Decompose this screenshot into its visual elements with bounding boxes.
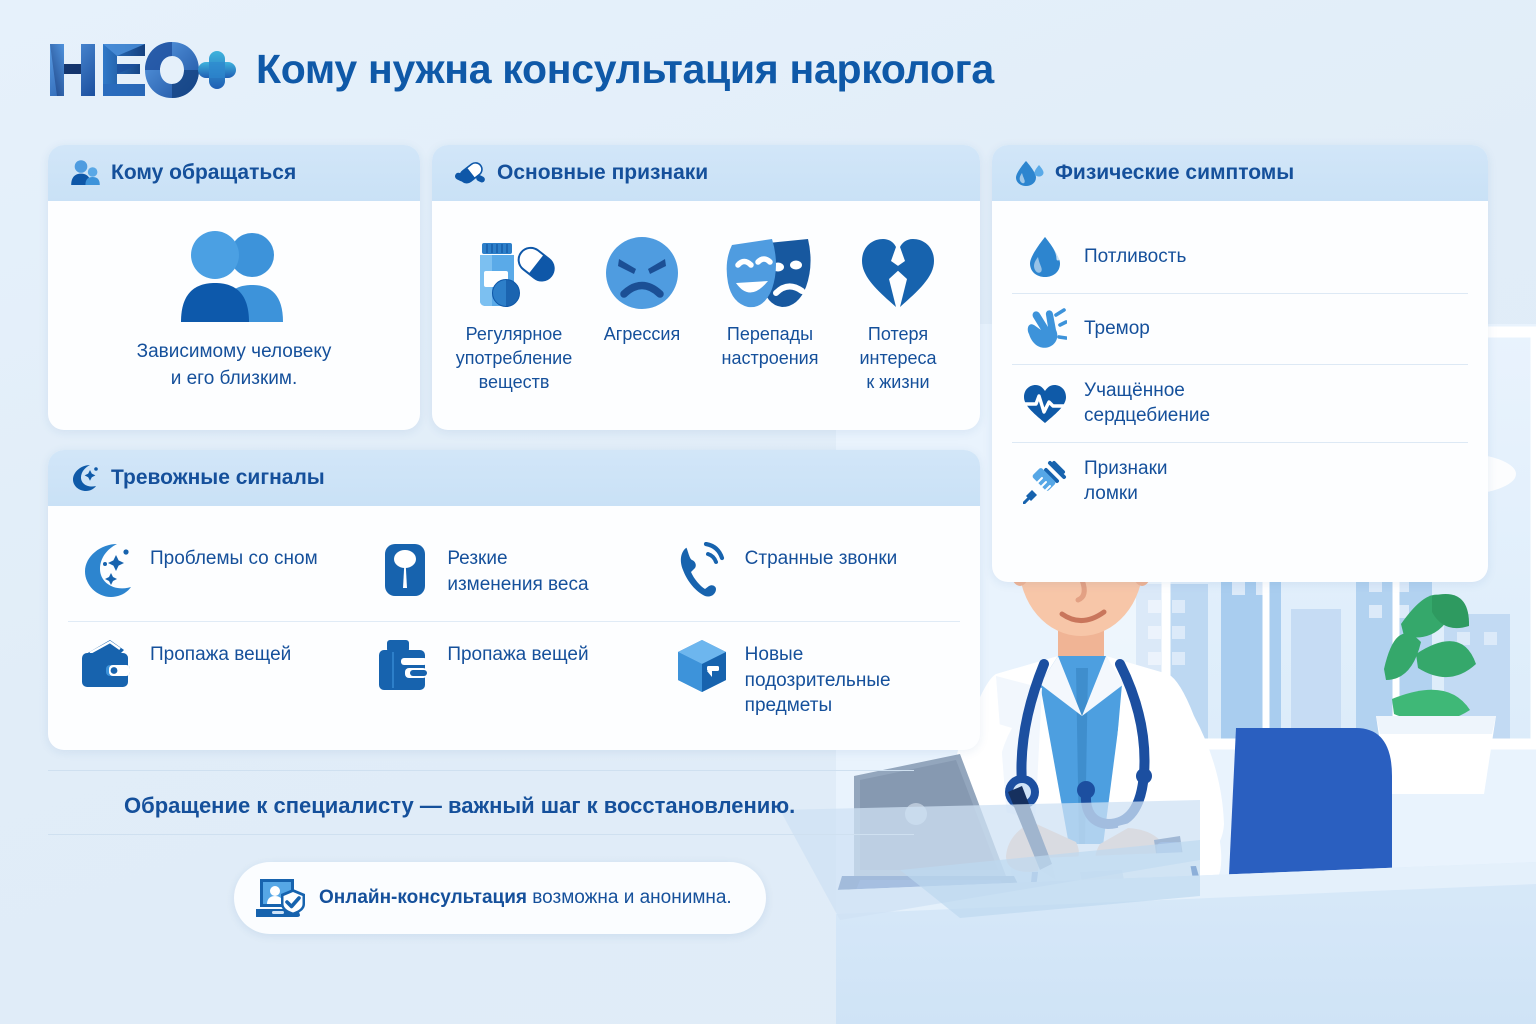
wallet-icon: [80, 636, 136, 690]
sign-label: Агрессия: [604, 323, 680, 347]
badge-text: Онлайн-консультация возможна и анонимна.: [319, 887, 732, 909]
signs-grid: Регулярное употребление веществ Агрессия: [452, 215, 960, 395]
footer-divider-bottom: [48, 834, 914, 835]
shaking-hand-icon: [1022, 308, 1068, 350]
list-item: Резкие изменения веса: [365, 526, 662, 622]
card-signs-body: Регулярное употребление веществ Агрессия: [432, 201, 980, 411]
desk: [836, 862, 1536, 1024]
list-item: Пропажа вещей: [68, 622, 365, 735]
potted-plant: [1376, 594, 1496, 794]
card-signs-header: Основные признаки: [432, 145, 980, 201]
card-physical-symptoms: Физические симптомы Потливость: [992, 145, 1488, 582]
water-drops-icon: [1014, 159, 1044, 187]
office-chair: [1228, 728, 1392, 938]
header: Кому нужна консультация нарколога: [48, 38, 994, 100]
list-item-label: Странные звонки: [745, 540, 898, 572]
heartbeat-icon: [1022, 383, 1068, 425]
sign-item: Регулярное употребление веществ: [452, 227, 576, 395]
sign-label: Потеря интереса к жизни: [859, 323, 936, 395]
purse-icon: [377, 636, 433, 694]
card-alarm-signals: Тревожные сигналы Проблемы со сном: [48, 450, 980, 750]
list-item: Проблемы со сном: [68, 526, 365, 622]
card-alarm-title: Тревожные сигналы: [111, 466, 325, 490]
sign-item: Потеря интереса к жизни: [836, 227, 960, 395]
card-physical-title: Физические симптомы: [1055, 161, 1294, 185]
sign-item: Перепады настроения: [708, 227, 832, 395]
neo-plus-logo: [48, 38, 238, 100]
list-item-label: Учащённое сердцебиение: [1084, 379, 1210, 428]
list-item-label: Проблемы со сном: [150, 540, 318, 572]
alarm-grid-row-2: Пропажа вещей Пропажа вещей: [68, 622, 960, 735]
broken-heart-icon: [858, 235, 938, 311]
card-signs-title: Основные признаки: [497, 161, 708, 185]
theater-masks-icon: [724, 235, 816, 311]
list-item-label: Пропажа вещей: [447, 636, 588, 668]
weight-scale-icon: [377, 540, 433, 598]
list-item: Пропажа вещей: [365, 622, 662, 735]
card-who-body: Зависимому человеку и его близким.: [48, 201, 420, 409]
card-physical-header: Физические симптомы: [992, 145, 1488, 201]
list-item-label: Пропажа вещей: [150, 636, 291, 668]
laptop-verified-icon: [256, 875, 306, 921]
card-who-header: Кому обращаться: [48, 145, 420, 201]
list-item-label: Новые подозрительные предметы: [745, 636, 891, 719]
sign-label: Регулярное употребление веществ: [456, 323, 572, 395]
two-people-large-icon: [162, 229, 306, 325]
badge-strong: Онлайн-консультация: [319, 887, 527, 908]
card-who-title: Кому обращаться: [111, 161, 296, 185]
page-title: Кому нужна консультация нарколога: [256, 46, 994, 93]
pill-bottle-icon: [472, 235, 556, 311]
list-item-label: Резкие изменения веса: [447, 540, 588, 597]
list-item: Учащённое сердцебиение: [1012, 365, 1468, 443]
list-item-label: Признаки ломки: [1084, 457, 1168, 506]
phone-call-icon: [675, 540, 731, 600]
card-physical-body: Потливость Тремор: [992, 201, 1488, 537]
laptop: [836, 754, 1024, 896]
who-caption-line: Зависимому человеку: [137, 339, 332, 366]
two-people-icon: [70, 159, 100, 187]
moon-stars-icon: [80, 540, 136, 600]
card-main-signs: Основные признаки: [432, 145, 980, 430]
sign-item: Агрессия: [580, 227, 704, 395]
list-item: Потливость: [1012, 221, 1468, 294]
list-item: Признаки ломки: [1012, 443, 1468, 520]
droplet-icon: [1022, 235, 1068, 279]
card-alarm-body: Проблемы со сном Резкие изменения веса: [48, 506, 980, 750]
decorative-shard: [780, 800, 1200, 950]
alarm-grid-row-1: Проблемы со сном Резкие изменения веса: [68, 520, 960, 622]
footer-note: Обращение к специалисту — важный шаг к в…: [124, 793, 795, 819]
online-consultation-badge[interactable]: Онлайн-консультация возможна и анонимна.: [234, 862, 766, 934]
card-who-to-contact: Кому обращаться Зависимому человеку и ег…: [48, 145, 420, 430]
list-item-label: Тремор: [1084, 317, 1150, 342]
card-alarm-header: Тревожные сигналы: [48, 450, 980, 506]
crescent-moon-icon: [70, 463, 100, 493]
list-item: Странные звонки: [663, 526, 960, 622]
package-box-icon: [675, 636, 731, 694]
card-who-caption: Зависимому человеку и его близким.: [137, 339, 332, 393]
sign-label: Перепады настроения: [722, 323, 819, 371]
list-item-label: Потливость: [1084, 245, 1186, 270]
list-item: Новые подозрительные предметы: [663, 622, 960, 735]
physical-symptoms-list: Потливость Тремор: [1012, 215, 1468, 521]
who-caption-line: и его близким.: [137, 366, 332, 393]
angry-face-icon: [604, 235, 680, 311]
clipboard: [1028, 852, 1208, 914]
list-item: Тремор: [1012, 294, 1468, 365]
pills-icon: [454, 159, 486, 187]
badge-rest: возможна и анонимна.: [527, 887, 732, 908]
pen: [1008, 786, 1056, 880]
footer-divider-top: [48, 770, 914, 771]
syringe-icon: [1022, 460, 1068, 504]
